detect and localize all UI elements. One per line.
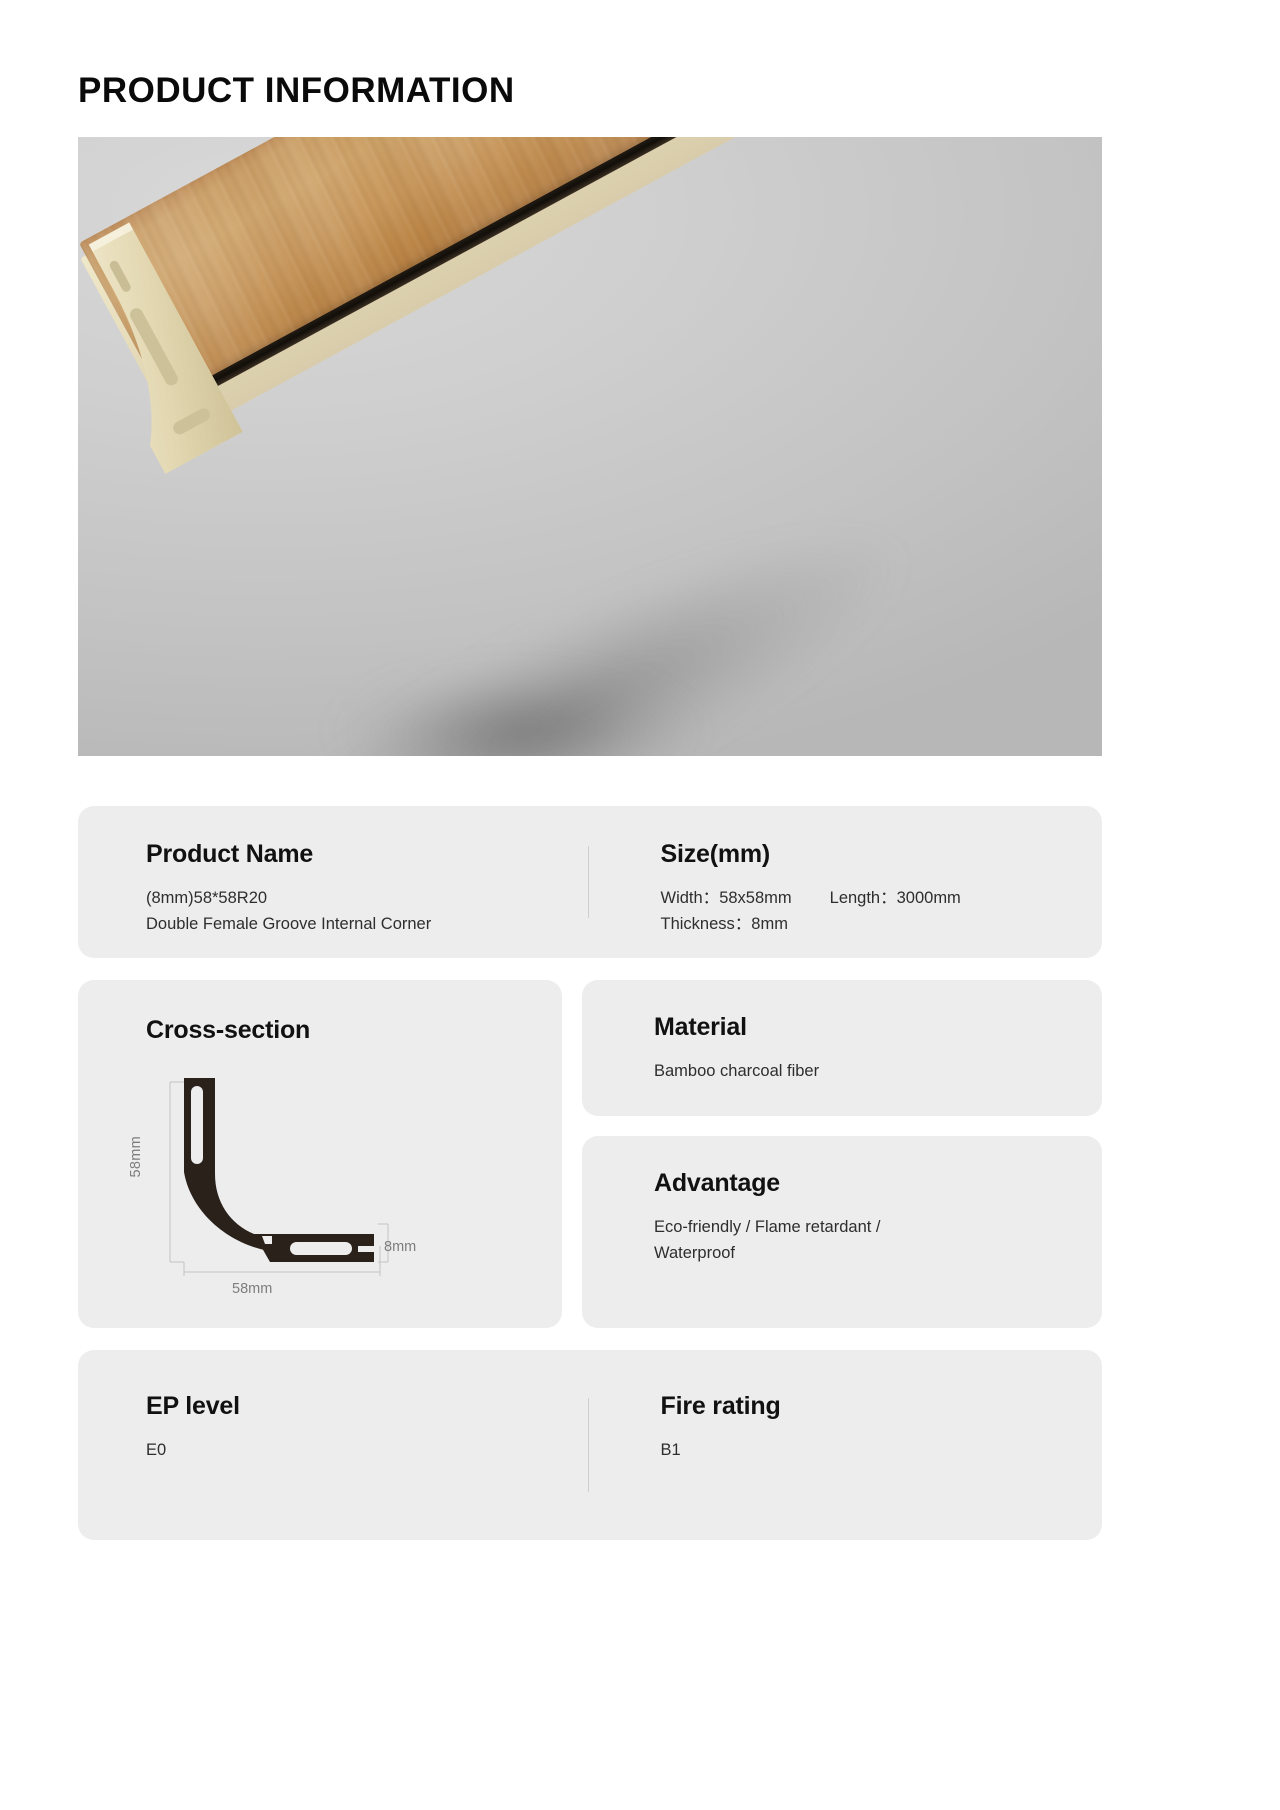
page-title: PRODUCT INFORMATION [78,0,1202,111]
material-value: Bamboo charcoal fiber [654,1058,1102,1085]
product-name-body: (8mm)58*58R20 Double Female Groove Inter… [146,885,588,938]
fire-rating-value: B1 [661,1437,1103,1464]
product-information-page: PRODUCT INFORMATION [0,0,1280,1810]
product-name-section: Product Name (8mm)58*58R20 Double Female… [78,840,588,924]
groove-slot-vertical [191,1086,203,1164]
fire-rating-title: Fire rating [661,1392,1103,1421]
size-width-label: Width： [661,889,720,907]
size-length-value: 3000mm [897,889,961,907]
details-stack: Material Bamboo charcoal fiber Advantage… [582,980,1102,1328]
plank-sheen-highlight [79,137,1047,401]
card-ep-fire: EP level E0 Fire rating B1 [78,1350,1102,1540]
ep-level-section: EP level E0 [78,1392,588,1498]
size-width-value: 58x58mm [719,889,791,907]
size-section: Size(mm) Width：58x58mm Length：3000mm Thi… [589,840,1103,924]
hero-shadow-secondary [328,657,748,756]
size-length: Length：3000mm [830,885,961,912]
size-title: Size(mm) [661,840,1103,869]
row-cross-section-details: Cross-section [78,980,1102,1328]
size-thickness: Thickness：8mm [661,911,788,938]
size-thickness-label: Thickness： [661,915,752,933]
profile-outline [184,1078,374,1262]
advantage-body: Eco-friendly / Flame retardant / Waterpr… [654,1214,1102,1267]
cross-section-diagram: 58mm 8mm 58mm [122,1076,502,1306]
fire-rating-section: Fire rating B1 [589,1392,1103,1498]
dimension-width-label: 58mm [232,1281,272,1297]
size-row-thickness: Thickness：8mm [661,911,1103,938]
product-name-title: Product Name [146,840,588,869]
groove-notch-right [358,1246,376,1252]
card-cross-section: Cross-section [78,980,562,1328]
product-hero-image [78,137,1102,756]
ep-level-title: EP level [146,1392,588,1421]
size-width: Width：58x58mm [661,885,792,912]
size-body: Width：58x58mm Length：3000mm Thickness：8m… [661,885,1103,938]
groove-slot-horizontal [290,1242,352,1255]
card-product-name-size: Product Name (8mm)58*58R20 Double Female… [78,806,1102,958]
dimension-height-label: 58mm [128,1136,144,1178]
cross-section-profile-icon [122,1076,502,1306]
card-material: Material Bamboo charcoal fiber [582,980,1102,1116]
size-length-label: Length： [830,889,897,907]
material-title: Material [654,1013,1102,1042]
advantage-title: Advantage [654,1169,1102,1198]
advantage-line-2: Waterproof [654,1240,1102,1267]
dimension-thickness-label: 8mm [384,1239,416,1255]
product-name-code: (8mm)58*58R20 [146,885,588,912]
product-name-description: Double Female Groove Internal Corner [146,911,588,938]
advantage-line-1: Eco-friendly / Flame retardant / [654,1214,1102,1241]
cross-section-title: Cross-section [146,1016,562,1045]
size-row-width-length: Width：58x58mm Length：3000mm [661,885,1103,912]
card-advantage: Advantage Eco-friendly / Flame retardant… [582,1136,1102,1328]
size-thickness-value: 8mm [751,915,788,933]
ep-level-value: E0 [146,1437,588,1464]
